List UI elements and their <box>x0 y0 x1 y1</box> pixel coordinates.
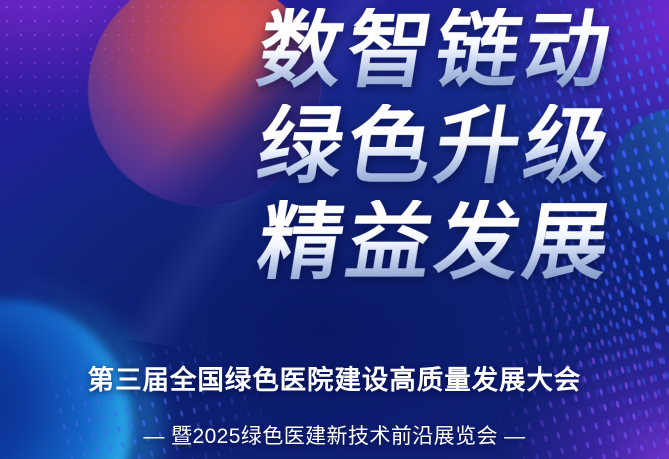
event-poster: 数智链动 绿色升级 精益发展 第三届全国绿色医院建设高质量发展大会 — 暨202… <box>0 0 669 459</box>
headline-block: 数智链动 绿色升级 精益发展 <box>0 0 669 320</box>
headline-line-1: 数智链动 <box>252 8 620 92</box>
conference-name: 第三届全国绿色医院建设高质量发展大会 <box>0 358 669 397</box>
exhibition-name: — 暨2025绿色医建新技术前沿展览会 — <box>0 420 669 450</box>
headline-line-3: 精益发展 <box>252 200 620 284</box>
headline-line-2: 绿色升级 <box>252 104 620 188</box>
